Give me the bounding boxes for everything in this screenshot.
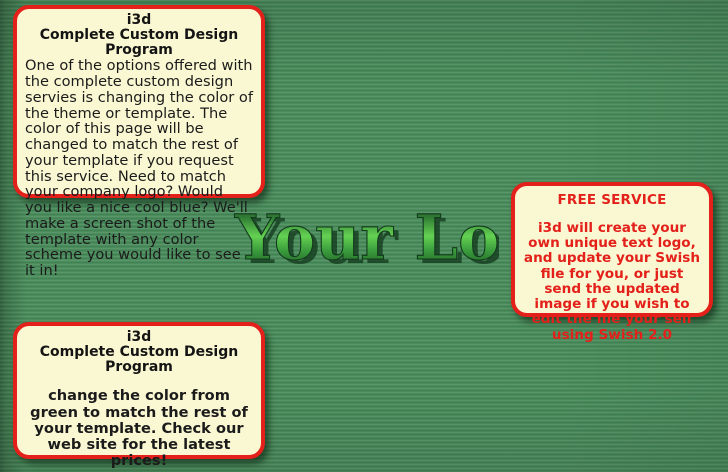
free-service-heading: FREE SERVICE [522, 192, 702, 208]
callout-box-bottom-left: i3d Complete Custom Design Program chang… [13, 322, 265, 459]
logo-text-main: Your Logo [234, 209, 499, 274]
callout-title-line-2: Complete Custom Design Program [25, 345, 253, 375]
callout-content: FREE SERVICE i3d will create your own un… [515, 186, 709, 349]
callout-box-top-left: i3d Complete Custom Design Program One o… [13, 5, 265, 198]
callout-title-line-1: i3d [25, 330, 253, 345]
logo-svg: Your Logo Your Logo [231, 209, 499, 281]
callout-title-bottom-left: i3d Complete Custom Design Program [25, 330, 253, 374]
callout-body-top-left: One of the options offered with the comp… [25, 58, 253, 279]
callout-title-line-1: i3d [25, 13, 253, 28]
callout-box-free-service: FREE SERVICE i3d will create your own un… [511, 182, 713, 317]
free-service-body: i3d will create your own unique text log… [522, 221, 702, 343]
your-logo-wordmark: Your Logo Your Logo [231, 209, 499, 281]
callout-content: i3d Complete Custom Design Program chang… [17, 326, 261, 472]
callout-body-bottom-left: change the color from green to match the… [25, 388, 253, 468]
page-canvas: i3d Complete Custom Design Program One o… [0, 0, 728, 472]
callout-content: i3d Complete Custom Design Program One o… [17, 9, 261, 285]
callout-title-line-2: Complete Custom Design Program [25, 28, 253, 58]
callout-title-top-left: i3d Complete Custom Design Program [25, 13, 253, 57]
